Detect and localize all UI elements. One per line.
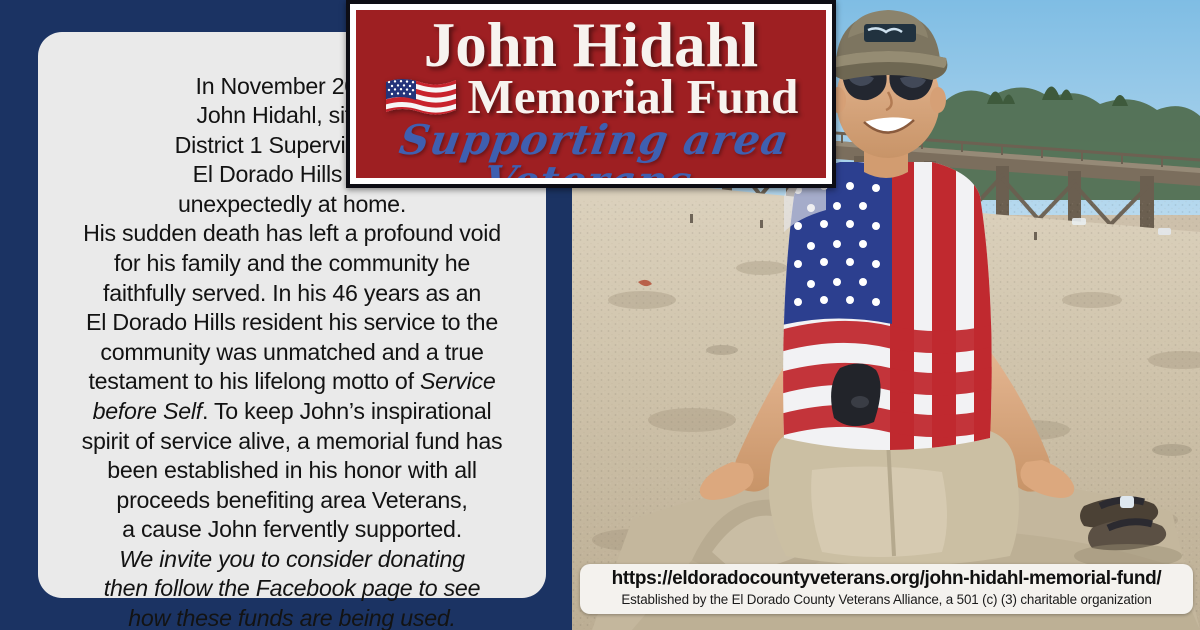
logo-title-line1: John Hidahl	[356, 14, 826, 77]
us-flag-icon	[384, 76, 458, 118]
logo-white-frame: John Hidahl	[350, 4, 832, 184]
established-by-text: Established by the El Dorado County Vete…	[621, 592, 1151, 609]
poster-canvas: In November 2024, John Hidahl, sitting D…	[0, 0, 1200, 630]
logo-title-line2-row: Memorial Fund	[356, 72, 826, 121]
fund-url-link[interactable]: https://eldoradocountyveterans.org/john-…	[612, 569, 1162, 590]
url-footer-bar: https://eldoradocountyveterans.org/john-…	[580, 564, 1193, 614]
memorial-fund-logo-banner: John Hidahl	[346, 0, 836, 188]
logo-title-line2: Memorial Fund	[468, 72, 799, 121]
logo-tagline: Supporting area Veterans	[356, 120, 826, 178]
logo-red-field: John Hidahl	[356, 10, 826, 178]
story-closing: We invite you to consider donating then …	[52, 545, 532, 630]
